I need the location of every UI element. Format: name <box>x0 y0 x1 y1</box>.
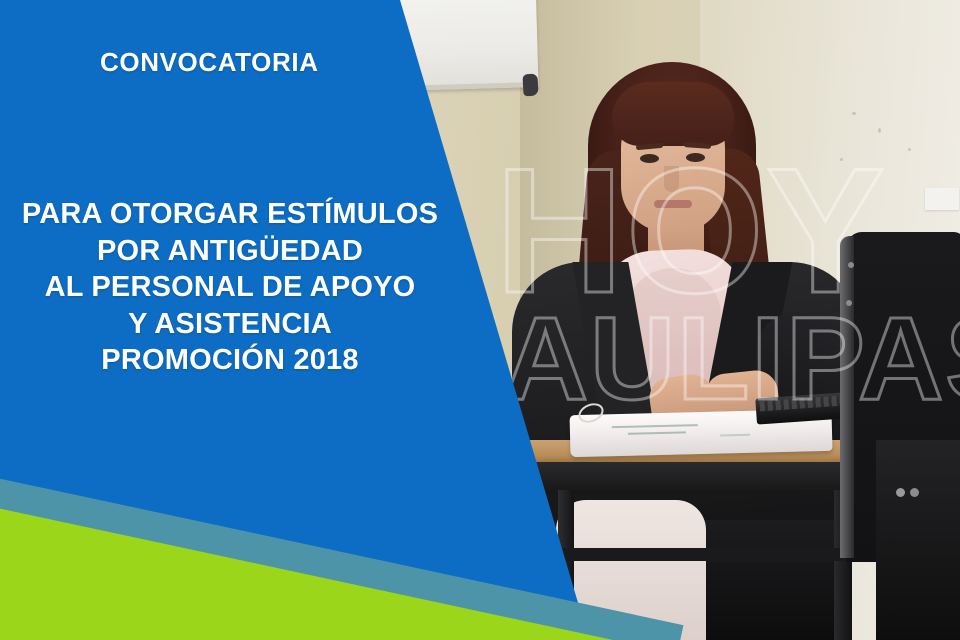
text-layer: CONVOCATORIA PARA OTORGAR ESTÍMULOS POR … <box>0 0 960 640</box>
headline-block: PARA OTORGAR ESTÍMULOS POR ANTIGÜEDAD AL… <box>0 196 460 379</box>
poster-banner: HOY TAMAULIPAS CONVOCATORIA PARA OTORGAR… <box>0 0 960 640</box>
headline-line-2: POR ANTIGÜEDAD <box>0 233 460 270</box>
headline-line-1: PARA OTORGAR ESTÍMULOS <box>0 196 460 233</box>
kicker-label: CONVOCATORIA <box>100 47 319 78</box>
headline-line-4: Y ASISTENCIA <box>0 306 460 343</box>
headline-line-3: AL PERSONAL DE APOYO <box>0 269 460 306</box>
headline-line-5: PROMOCIÓN 2018 <box>0 342 460 379</box>
